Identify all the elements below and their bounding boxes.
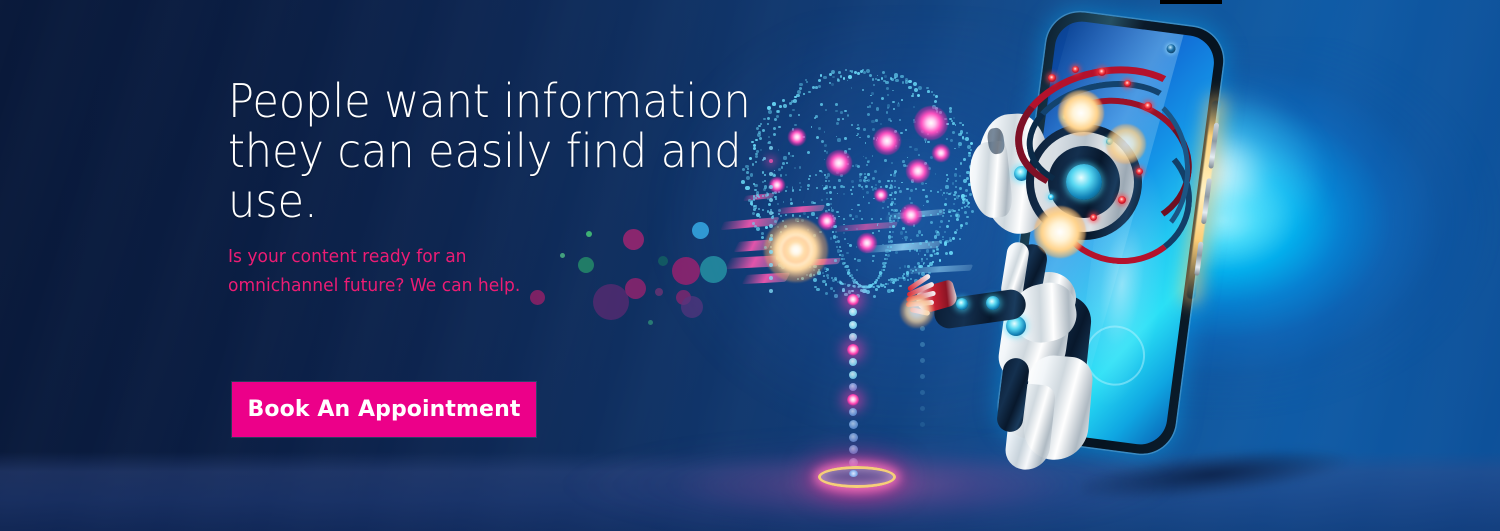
sphere-meridian-dot xyxy=(887,246,889,248)
sphere-dot xyxy=(848,148,851,151)
sphere-dot xyxy=(867,173,869,175)
robot-led-red-6 xyxy=(1136,168,1143,175)
sphere-meridian-dot xyxy=(885,249,888,252)
sphere-meridian-dot xyxy=(906,274,909,277)
sphere-meridian-dot xyxy=(839,246,841,248)
sphere-dot xyxy=(876,107,879,110)
sphere-dot xyxy=(836,122,838,124)
sphere-dot xyxy=(884,286,886,288)
sphere-meridian-dot xyxy=(926,258,928,260)
sphere-dot xyxy=(845,228,847,230)
sphere-meridian-dot xyxy=(888,235,891,238)
sphere-dot xyxy=(899,190,902,193)
sphere-meridian-dot xyxy=(878,275,880,277)
sphere-dot xyxy=(813,278,817,282)
bokeh-dot xyxy=(578,257,594,273)
sphere-dot xyxy=(854,258,856,260)
sphere-dot xyxy=(902,238,903,239)
sphere-meridian-dot xyxy=(891,209,893,211)
sphere-meridian-dot xyxy=(890,174,892,176)
sphere-meridian-dot xyxy=(911,272,913,274)
robot-head-flare-right xyxy=(1106,124,1146,164)
sphere-dot xyxy=(866,164,868,166)
sphere-dot xyxy=(900,132,903,135)
sphere-dot xyxy=(864,173,866,175)
sphere-dot xyxy=(862,289,866,293)
robot-led-cyan-3 xyxy=(1048,194,1054,200)
sphere-dot xyxy=(857,72,860,75)
sphere-meridian-dot xyxy=(891,180,893,182)
sphere-dot xyxy=(908,80,912,84)
sphere-meridian-dot xyxy=(853,285,856,288)
sphere-dot xyxy=(834,294,837,297)
sphere-dot xyxy=(882,207,884,209)
sphere-dot xyxy=(840,75,842,77)
sphere-dot xyxy=(872,260,873,261)
sphere-dot xyxy=(844,238,846,240)
sphere-dot xyxy=(925,195,928,198)
robot-wrist-joint xyxy=(956,298,968,310)
sphere-dot xyxy=(877,223,878,224)
sphere-dot xyxy=(872,78,875,81)
sphere-dot xyxy=(837,193,838,194)
sphere-meridian-dot xyxy=(897,279,899,281)
robot-led-red-7 xyxy=(1118,196,1126,204)
sphere-meridian-dot xyxy=(835,231,837,233)
sphere-dot xyxy=(869,105,872,108)
sphere-meridian-dot xyxy=(882,262,885,265)
sphere-meridian-dot xyxy=(887,283,889,285)
trail-dot-faint xyxy=(920,358,925,363)
sphere-dot xyxy=(837,138,840,141)
sphere-dot xyxy=(897,103,900,106)
sphere-dot xyxy=(913,82,917,86)
sphere-dot xyxy=(901,99,903,101)
sphere-latitude-dot xyxy=(922,215,924,217)
sphere-dot xyxy=(851,180,854,183)
sphere-meridian-dot xyxy=(893,220,895,222)
sphere-meridian-dot xyxy=(888,241,890,243)
sphere-meridian-dot xyxy=(845,265,848,268)
sphere-meridian-dot xyxy=(917,262,920,265)
sphere-dot xyxy=(895,251,898,254)
sphere-dot xyxy=(868,202,870,204)
sphere-meridian-dot xyxy=(891,198,893,200)
sphere-meridian-dot xyxy=(894,203,896,205)
sphere-dot xyxy=(851,209,852,210)
sphere-meridian-dot xyxy=(889,220,892,223)
sphere-dot xyxy=(902,81,904,83)
sphere-meridian-dot xyxy=(844,283,846,285)
sphere-glow-node xyxy=(906,159,930,183)
sphere-meridian-dot xyxy=(867,285,870,288)
sphere-meridian-dot xyxy=(858,286,860,288)
sphere-dot xyxy=(905,239,907,241)
sphere-meridian-dot xyxy=(823,275,825,277)
sphere-dot xyxy=(901,182,903,184)
robot-led-red-8 xyxy=(1090,214,1097,221)
sphere-dot xyxy=(859,210,861,212)
sphere-latitude-dot xyxy=(852,218,854,220)
sphere-dot xyxy=(825,292,828,295)
sphere-latitude-dot xyxy=(871,218,873,220)
sphere-dot xyxy=(856,228,858,230)
sphere-dot xyxy=(887,289,890,292)
sphere-dot xyxy=(882,244,883,245)
sphere-dot xyxy=(918,230,921,233)
sphere-latitude-dot xyxy=(880,218,882,220)
sphere-dot xyxy=(831,83,834,86)
trail-dot-pink xyxy=(847,294,859,306)
sphere-dot xyxy=(891,162,893,164)
sphere-dot xyxy=(923,205,925,207)
sphere-dot xyxy=(887,107,889,109)
hero-banner: People want information they can easily … xyxy=(0,0,1500,531)
sphere-dot xyxy=(838,216,840,218)
sphere-latitude-dot xyxy=(861,218,863,220)
trail-dot-cyan xyxy=(849,420,858,429)
sphere-dot xyxy=(877,75,879,77)
sphere-dot xyxy=(913,106,915,108)
sphere-dot xyxy=(899,285,901,287)
bokeh-dot xyxy=(586,231,592,237)
sphere-dot xyxy=(859,179,862,182)
sphere-meridian-dot xyxy=(894,191,897,194)
ring-center-dot xyxy=(849,470,858,477)
sphere-dot xyxy=(855,215,858,218)
lens-flare-core xyxy=(782,236,810,264)
android-robot xyxy=(930,28,1230,498)
bokeh-dot xyxy=(648,320,653,325)
sphere-dot xyxy=(910,278,912,280)
sphere-dot xyxy=(859,137,861,139)
sphere-dot xyxy=(865,142,867,144)
robot-face xyxy=(966,140,1014,220)
sphere-dot xyxy=(890,120,893,123)
sphere-meridian-dot xyxy=(830,198,832,200)
trail-dot-faint xyxy=(920,390,925,395)
sphere-dot xyxy=(875,119,877,121)
book-appointment-button[interactable]: Book An Appointment xyxy=(232,382,536,437)
sphere-dot xyxy=(847,80,849,82)
bokeh-dot xyxy=(655,288,663,296)
sphere-dot xyxy=(837,118,839,120)
sphere-dot xyxy=(916,234,919,237)
sphere-dot xyxy=(902,227,905,230)
bokeh-dot xyxy=(700,256,727,283)
sphere-dot xyxy=(904,265,906,267)
sphere-dot xyxy=(871,92,874,95)
sphere-dot xyxy=(872,232,874,234)
sphere-meridian-dot xyxy=(840,250,842,252)
sphere-meridian-dot xyxy=(890,246,892,248)
sphere-dot xyxy=(914,148,917,151)
sphere-dot xyxy=(903,277,906,280)
sphere-dot xyxy=(765,226,768,229)
sphere-dot xyxy=(863,128,866,131)
sphere-meridian-dot xyxy=(831,209,834,212)
sphere-dot xyxy=(825,271,827,273)
sphere-dot xyxy=(842,118,844,120)
trail-dot-pink xyxy=(847,344,859,356)
sphere-dot xyxy=(892,101,894,103)
sphere-dot xyxy=(833,290,835,292)
sphere-dot xyxy=(835,103,838,106)
robot-led-red-3 xyxy=(1098,68,1106,76)
sphere-dot xyxy=(886,111,888,113)
sphere-dot xyxy=(834,259,837,262)
sphere-dot xyxy=(862,89,864,91)
sphere-dot xyxy=(887,180,890,183)
sphere-meridian-dot xyxy=(891,192,893,194)
sphere-dot xyxy=(899,119,902,122)
sphere-dot xyxy=(907,265,910,268)
sphere-meridian-dot xyxy=(894,186,896,188)
sphere-dot xyxy=(910,189,913,192)
sphere-dot xyxy=(856,135,857,136)
sphere-dot xyxy=(851,290,853,292)
sphere-meridian-dot xyxy=(882,266,884,268)
sphere-meridian-dot xyxy=(924,254,926,256)
sphere-dot xyxy=(816,288,819,291)
sphere-meridian-dot xyxy=(822,272,824,274)
sphere-dot xyxy=(865,157,868,160)
sphere-dot xyxy=(875,288,878,291)
sphere-dot xyxy=(881,97,884,100)
robot-led-red-5 xyxy=(1144,102,1152,110)
sphere-latitude-dot xyxy=(906,188,908,190)
sphere-dot xyxy=(840,111,843,114)
bokeh-dot xyxy=(672,257,700,285)
sphere-dot xyxy=(849,244,852,247)
sphere-dot xyxy=(832,72,834,74)
sphere-meridian-dot xyxy=(889,250,891,252)
sphere-dot xyxy=(907,279,909,281)
robot-forearm-joint xyxy=(986,296,1000,310)
sphere-meridian-dot xyxy=(836,246,838,248)
sphere-dot xyxy=(919,250,921,252)
sphere-latitude-dot xyxy=(915,188,917,190)
sphere-latitude-dot xyxy=(843,186,845,188)
sphere-meridian-dot xyxy=(893,279,896,282)
sphere-glow-node xyxy=(826,150,852,176)
sphere-dot xyxy=(845,69,847,71)
robot-head-flare-top xyxy=(1058,90,1104,136)
sphere-dot xyxy=(889,194,891,196)
sphere-meridian-dot xyxy=(890,240,893,243)
sphere-dot xyxy=(851,87,853,89)
sphere-dot xyxy=(904,247,905,248)
sphere-dot xyxy=(832,76,834,78)
sphere-dot xyxy=(857,124,859,126)
sphere-dot xyxy=(872,128,875,131)
sphere-dot xyxy=(859,176,861,178)
sphere-dot xyxy=(846,252,849,255)
sphere-dot xyxy=(847,115,849,117)
sphere-dot xyxy=(830,287,833,290)
trail-dot-faint xyxy=(920,406,925,411)
sphere-dot xyxy=(878,230,880,232)
sphere-dot xyxy=(926,87,929,90)
sphere-dot xyxy=(887,206,889,208)
sphere-meridian-dot xyxy=(875,279,878,282)
sphere-dot xyxy=(925,183,927,185)
sphere-dot xyxy=(866,69,870,73)
sphere-dot xyxy=(908,86,911,89)
sphere-dot xyxy=(866,191,869,194)
sphere-meridian-dot xyxy=(914,266,916,268)
sphere-dot xyxy=(867,179,870,182)
sphere-meridian-dot xyxy=(891,236,893,238)
sphere-glow-node xyxy=(857,233,877,253)
sphere-latitude-dot xyxy=(833,186,835,188)
sphere-dot xyxy=(874,170,877,173)
sphere-dot xyxy=(838,179,840,181)
bokeh-dot xyxy=(593,284,629,320)
sphere-dot xyxy=(857,127,860,130)
sphere-dot xyxy=(880,123,883,126)
sphere-dot xyxy=(905,129,906,130)
sphere-latitude-dot xyxy=(871,186,873,188)
sphere-dot xyxy=(836,211,838,213)
sphere-latitude-dot xyxy=(889,187,891,189)
sphere-dot xyxy=(867,113,870,116)
sphere-dot xyxy=(825,283,827,285)
ground-glow-ring xyxy=(818,466,896,488)
sphere-dot xyxy=(849,214,852,217)
sphere-dot xyxy=(857,204,860,207)
sphere-dot xyxy=(850,189,852,191)
sphere-meridian-dot xyxy=(841,254,844,257)
sphere-dot xyxy=(863,196,865,198)
sphere-dot xyxy=(895,79,898,82)
sphere-meridian-dot xyxy=(881,269,883,271)
sphere-meridian-dot xyxy=(844,262,846,264)
sphere-meridian-dot xyxy=(848,269,850,271)
sphere-dot xyxy=(912,243,914,245)
sphere-meridian-dot xyxy=(883,269,885,271)
robot-led-red-4 xyxy=(1124,80,1131,87)
sphere-dot xyxy=(859,173,862,176)
sphere-dot xyxy=(844,137,847,140)
sphere-dot xyxy=(856,269,858,271)
sphere-dot xyxy=(887,94,889,96)
sphere-latitude-dot xyxy=(898,187,900,189)
sphere-meridian-dot xyxy=(906,271,909,274)
sphere-latitude-dot xyxy=(922,189,924,191)
sphere-dot xyxy=(843,193,845,195)
sphere-meridian-dot xyxy=(879,271,882,274)
sphere-dot xyxy=(911,95,914,98)
sphere-meridian-dot xyxy=(894,198,896,200)
sphere-meridian-dot xyxy=(890,203,893,206)
sphere-dot xyxy=(926,200,929,203)
sphere-dot xyxy=(900,75,903,78)
sphere-dot xyxy=(903,164,905,166)
top-edge-artifact xyxy=(1160,0,1222,4)
robot-led-red-2 xyxy=(1072,66,1079,73)
sphere-dot xyxy=(884,159,887,162)
trail-dot-faint xyxy=(920,374,925,379)
sphere-dot xyxy=(862,188,865,191)
sphere-dot xyxy=(909,249,911,251)
sphere-dot xyxy=(918,253,920,255)
sphere-latitude-dot xyxy=(843,218,845,220)
sphere-dot xyxy=(894,244,895,245)
sphere-dot xyxy=(893,108,895,110)
robot-led-red-1 xyxy=(1048,74,1056,82)
sphere-meridian-dot xyxy=(827,277,829,279)
sphere-dot xyxy=(843,77,846,80)
sphere-glow-node xyxy=(873,127,901,155)
sphere-dot xyxy=(761,236,764,239)
sphere-meridian-dot xyxy=(915,269,917,271)
sphere-dot xyxy=(918,86,922,90)
trail-dot-faint xyxy=(920,422,925,427)
sphere-dot xyxy=(907,157,909,159)
sphere-meridian-dot xyxy=(894,215,896,217)
sphere-dot xyxy=(836,136,838,138)
sphere-dot xyxy=(814,286,816,288)
trail-dot-cyan xyxy=(849,433,858,442)
sphere-dot xyxy=(869,74,872,77)
sphere-dot xyxy=(872,255,875,258)
sphere-dot xyxy=(892,90,894,92)
sphere-dot xyxy=(914,249,916,251)
sphere-dot xyxy=(851,193,853,195)
sphere-dot xyxy=(857,165,860,168)
bokeh-dot xyxy=(560,253,565,258)
sphere-dot xyxy=(899,267,901,269)
sphere-dot xyxy=(878,180,881,183)
sphere-latitude-dot xyxy=(852,186,854,188)
bokeh-dot xyxy=(681,296,703,318)
sphere-dot xyxy=(867,160,870,163)
sphere-meridian-dot xyxy=(894,180,896,182)
sphere-meridian-dot xyxy=(872,286,874,288)
sphere-dot xyxy=(848,75,852,79)
sphere-dot xyxy=(844,110,847,113)
trail-dot-faint xyxy=(920,342,925,347)
robot-fingertip-glow xyxy=(900,294,934,328)
sphere-meridian-dot xyxy=(926,249,929,252)
sphere-meridian-dot xyxy=(884,258,886,260)
sphere-dot xyxy=(891,289,894,292)
bokeh-dot xyxy=(658,256,668,266)
sphere-meridian-dot xyxy=(893,173,896,176)
sphere-meridian-dot xyxy=(843,258,845,260)
sphere-glow-node xyxy=(874,188,888,202)
sphere-dot xyxy=(761,232,764,235)
sphere-dot xyxy=(885,185,887,187)
sphere-meridian-dot xyxy=(830,203,832,205)
page-subtitle: Is your content ready for an omnichannel… xyxy=(228,242,561,300)
sphere-dot xyxy=(882,71,885,74)
sphere-dot xyxy=(871,102,873,104)
robot-head-flare-bottom xyxy=(1034,206,1086,258)
sphere-dot xyxy=(897,219,899,221)
sphere-meridian-dot xyxy=(849,284,851,286)
sphere-dot xyxy=(867,135,870,138)
sphere-dot xyxy=(838,71,841,74)
sphere-dot xyxy=(909,197,911,199)
sphere-meridian-dot xyxy=(880,284,883,287)
sphere-dot xyxy=(872,155,873,156)
sphere-dot xyxy=(886,87,889,90)
sphere-dot xyxy=(863,179,866,182)
sphere-dot xyxy=(910,239,913,242)
sphere-meridian-dot xyxy=(892,225,895,228)
